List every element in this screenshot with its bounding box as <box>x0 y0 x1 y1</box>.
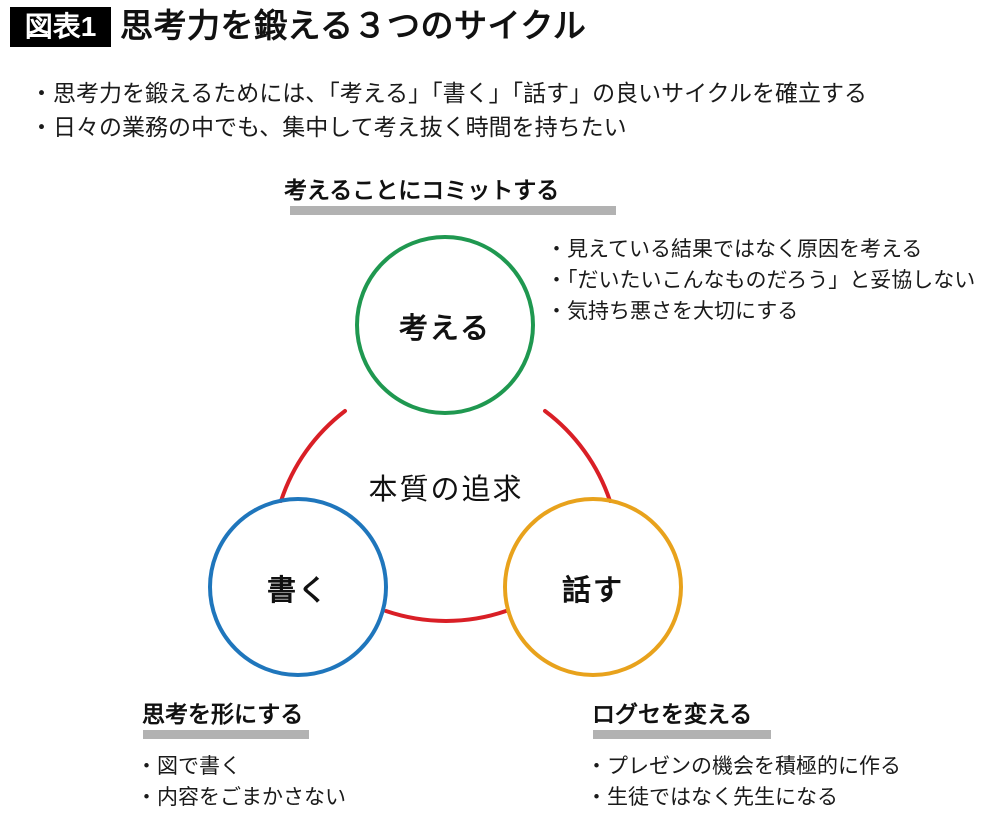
figure-number-badge: 図表1 <box>10 7 111 47</box>
diagram-center-label: 本質の追求 <box>368 466 523 508</box>
section-speak-rule <box>593 730 771 739</box>
bullet-item: ・気持ち悪さを大切にする <box>546 296 975 327</box>
section-speak-bullets: ・プレゼンの機会を積極的に作る ・生徒ではなく先生になる <box>586 751 901 813</box>
bullet-item: ・内容をごまかさない <box>136 782 346 813</box>
section-think: 考えることにコミットする <box>284 176 616 215</box>
section-speak-heading: ログセを変える <box>586 700 901 728</box>
section-think-bullets: ・見えている結果ではなく原因を考える ・「だいたいこんなものだろう」と妥協しない… <box>546 234 975 327</box>
section-think-heading: 考えることにコミットする <box>284 176 616 204</box>
node-label-think: 考える <box>399 305 491 347</box>
lead-bullet-list: ・思考力を鍛えるためには、「考える」「書く」「話す」の良いサイクルを確立する ・… <box>30 76 990 144</box>
bullet-item: ・「だいたいこんなものだろう」と妥協しない <box>546 265 975 296</box>
cycle-arc-write-to-speak <box>386 611 506 621</box>
cycle-arc-speak-to-think <box>545 411 610 501</box>
node-label-write: 書く <box>267 567 329 609</box>
lead-bullet-item: ・思考力を鍛えるためには、「考える」「書く」「話す」の良いサイクルを確立する <box>30 76 990 110</box>
bullet-item: ・プレゼンの機会を積極的に作る <box>586 751 901 782</box>
bullet-item: ・図で書く <box>136 751 346 782</box>
section-think-rule <box>290 206 616 215</box>
section-write-rule <box>143 730 309 739</box>
node-label-speak: 話す <box>562 567 624 609</box>
section-write-bullets: ・図で書く ・内容をごまかさない <box>136 751 346 813</box>
section-speak: ログセを変える ・プレゼンの機会を積極的に作る ・生徒ではなく先生になる <box>586 700 901 813</box>
lead-bullet-item: ・日々の業務の中でも、集中して考え抜く時間を持ちたい <box>30 110 990 144</box>
bullet-item: ・生徒ではなく先生になる <box>586 782 901 813</box>
cycle-arc-group <box>281 411 610 621</box>
cycle-arc-write-to-think <box>281 411 345 501</box>
section-write: 思考を形にする ・図で書く ・内容をごまかさない <box>136 700 346 813</box>
header: 図表1 思考力を鍛える３つのサイクル <box>0 0 1000 56</box>
bullet-item: ・見えている結果ではなく原因を考える <box>546 234 975 265</box>
page-title: 思考力を鍛える３つのサイクル <box>120 3 586 49</box>
section-write-heading: 思考を形にする <box>136 700 346 728</box>
